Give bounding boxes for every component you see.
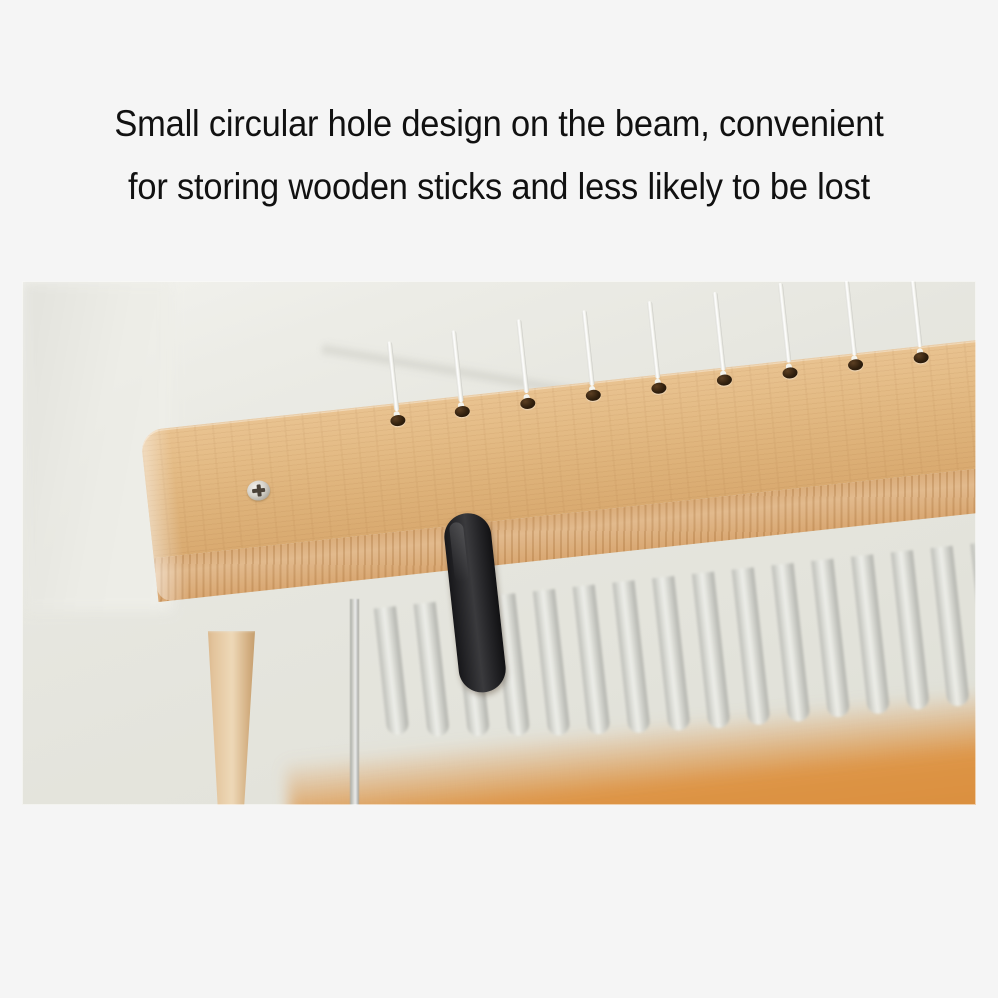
screw-cross-horizontal bbox=[252, 488, 265, 493]
metal-rod bbox=[414, 602, 450, 738]
metal-rod bbox=[851, 554, 890, 714]
metal-rod bbox=[891, 550, 930, 710]
metal-rod bbox=[692, 572, 731, 729]
caption-line-1: Small circular hole design on the beam, … bbox=[35, 92, 963, 155]
steel-leg-rod bbox=[350, 599, 359, 805]
caption-line-2: for storing wooden sticks and less likel… bbox=[35, 155, 963, 218]
metal-rod bbox=[652, 576, 691, 731]
metal-rod bbox=[931, 546, 970, 707]
metal-rod bbox=[612, 580, 650, 733]
metal-rod bbox=[732, 567, 771, 725]
product-photo bbox=[22, 281, 976, 805]
caption-block: Small circular hole design on the beam, … bbox=[0, 92, 998, 218]
metal-rod bbox=[374, 606, 410, 736]
metal-rod bbox=[970, 541, 976, 702]
metal-rod bbox=[533, 589, 571, 737]
metal-rod bbox=[811, 559, 850, 718]
metal-rod bbox=[573, 585, 611, 736]
metal-rod bbox=[772, 563, 811, 722]
